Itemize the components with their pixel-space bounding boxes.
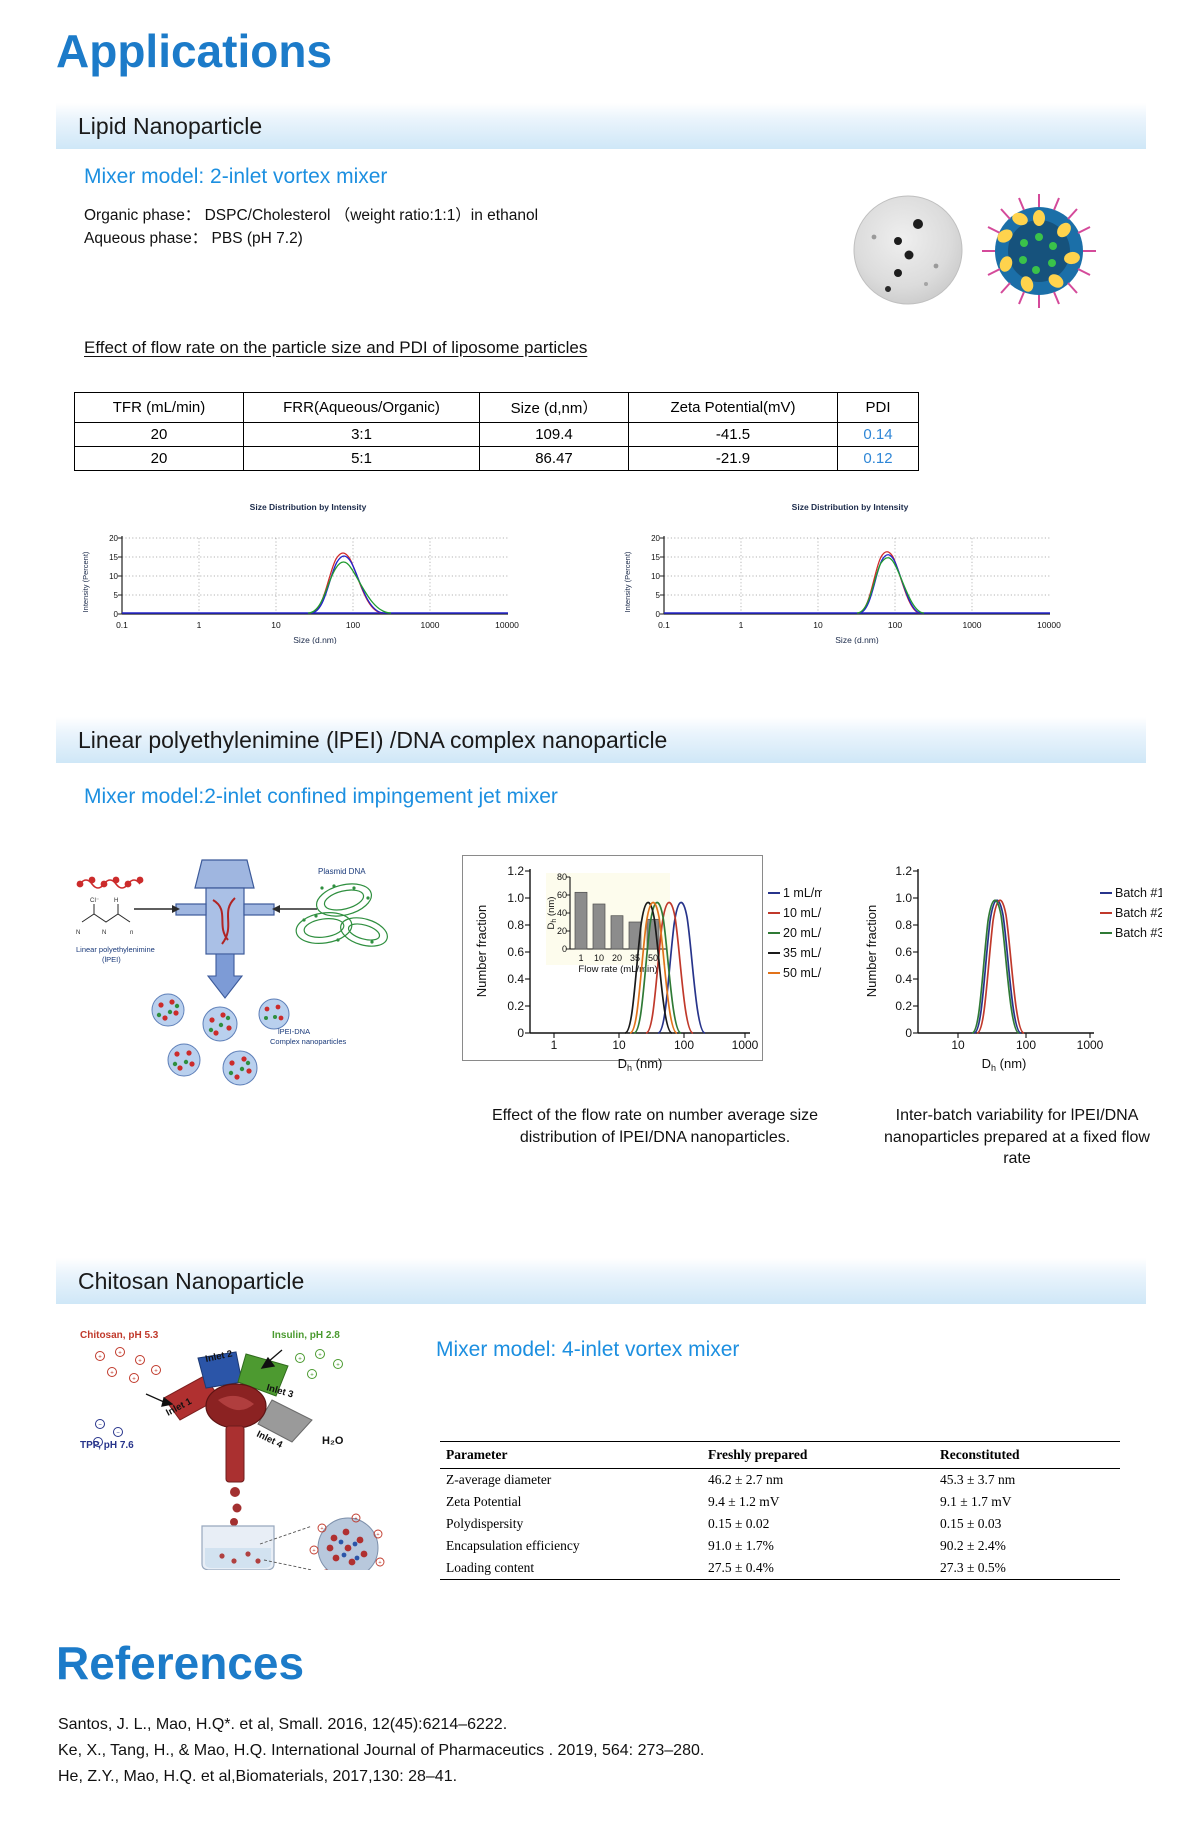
reference-item: Ke, X., Tang, H., & Mao, H.Q. Internatio… — [58, 1738, 704, 1764]
th-pdi: PDI — [838, 393, 919, 423]
svg-text:0.4: 0.4 — [895, 972, 912, 986]
section-title-lipid-nanoparticle: Lipid Nanoparticle — [56, 113, 262, 140]
cell-tfr: 20 — [75, 447, 244, 471]
cell-freshly: 27.5 ± 0.4% — [684, 1557, 916, 1580]
dls-chart-right: Size Distribution by Intensity Intensity… — [620, 500, 1080, 650]
svg-text:1.2: 1.2 — [507, 864, 524, 878]
svg-text:Complex nanoparticles: Complex nanoparticles — [270, 1037, 347, 1046]
dls-chart-title: Size Distribution by Intensity — [620, 500, 1080, 512]
th-freshly: Freshly prepared — [684, 1442, 916, 1469]
page-title-references: References — [56, 1640, 304, 1686]
svg-text:10: 10 — [813, 620, 823, 630]
th-frr: FRR(Aqueous/Organic) — [244, 393, 480, 423]
cell-reconstituted: 45.3 ± 3.7 nm — [916, 1469, 1120, 1492]
svg-text:1.0: 1.0 — [507, 891, 524, 905]
svg-text:1000: 1000 — [1077, 1038, 1104, 1052]
svg-text:Insulin, pH 2.8: Insulin, pH 2.8 — [272, 1330, 340, 1341]
svg-text:15: 15 — [109, 553, 118, 562]
svg-text:1: 1 — [578, 953, 583, 963]
cell-reconstituted: 0.15 ± 0.03 — [916, 1513, 1120, 1535]
cell-size: 109.4 — [480, 423, 629, 447]
cell-freshly: 9.4 ± 1.2 mV — [684, 1491, 916, 1513]
chart-flow-rate-distribution: Number fraction 0 0.2 0.4 0.6 0.8 1.0 1.… — [462, 855, 822, 1085]
th-zeta: Zeta Potential(mV) — [629, 393, 838, 423]
svg-text:Dh (nm): Dh (nm) — [618, 1056, 663, 1073]
mixer-model-chitosan: Mixer model: 4-inlet vortex mixer — [436, 1338, 739, 1362]
cell-reconstituted: 9.1 ± 1.7 mV — [916, 1491, 1120, 1513]
svg-text:+: + — [378, 1560, 381, 1566]
cell-tfr: 20 — [75, 423, 244, 447]
svg-text:+: + — [110, 1371, 114, 1377]
svg-text:−: − — [116, 1431, 120, 1437]
cell-parameter: Z-average diameter — [440, 1469, 684, 1492]
svg-text:0.8: 0.8 — [895, 918, 912, 932]
svg-text:−: − — [98, 1423, 102, 1429]
svg-text:Size (d.nm): Size (d.nm) — [835, 635, 879, 644]
svg-text:1: 1 — [739, 620, 744, 630]
svg-text:0: 0 — [114, 610, 119, 619]
cell-frr: 5:1 — [244, 447, 480, 471]
svg-text:TPP, pH 7.6: TPP, pH 7.6 — [80, 1440, 134, 1451]
svg-text:N: N — [76, 930, 80, 936]
svg-text:CI⁻: CI⁻ — [90, 898, 99, 904]
svg-text:0.8: 0.8 — [507, 918, 524, 932]
svg-text:1000: 1000 — [732, 1038, 759, 1052]
section-title-lpei-dna: Linear polyethylenimine (lPEI) /DNA comp… — [56, 727, 667, 754]
svg-text:20: 20 — [612, 953, 622, 963]
table-row: 20 3:1 109.4 -41.5 0.14 — [75, 423, 919, 447]
table-row: Z-average diameter 46.2 ± 2.7 nm 45.3 ± … — [440, 1469, 1120, 1492]
table-row: Encapsulation efficiency 91.0 ± 1.7% 90.… — [440, 1535, 1120, 1557]
svg-text:20 mL/min: 20 mL/min — [783, 926, 822, 940]
svg-text:Size (d.nm): Size (d.nm) — [293, 635, 337, 644]
svg-text:60: 60 — [557, 890, 567, 900]
section-title-chitosan: Chitosan Nanoparticle — [56, 1268, 304, 1295]
svg-text:Number fraction: Number fraction — [474, 905, 489, 997]
dls-plot-left: Intensity (Percent) 05 101520 — [78, 512, 538, 644]
section-band-lpei-dna: Linear polyethylenimine (lPEI) /DNA comp… — [56, 717, 1146, 763]
svg-text:+: + — [98, 1355, 102, 1361]
svg-text:1.0: 1.0 — [895, 891, 912, 905]
tem-micrograph-image — [852, 194, 964, 306]
svg-text:Linear polyethylenimine: Linear polyethylenimine — [76, 945, 155, 954]
table-header-row: Parameter Freshly prepared Reconstituted — [440, 1442, 1120, 1469]
svg-text:+: + — [138, 1359, 142, 1365]
svg-text:0.6: 0.6 — [507, 945, 524, 959]
table-row: Loading content 27.5 ± 0.4% 27.3 ± 0.5% — [440, 1557, 1120, 1580]
svg-text:+: + — [298, 1357, 302, 1363]
svg-text:1: 1 — [551, 1038, 558, 1052]
svg-text:0.1: 0.1 — [658, 620, 670, 630]
svg-text:Plasmid DNA: Plasmid DNA — [318, 867, 366, 876]
svg-text:50: 50 — [648, 953, 658, 963]
figure-caption-batch: Inter-batch variability for lPEI/DNA nan… — [872, 1105, 1162, 1170]
svg-text:1 mL/min: 1 mL/min — [783, 886, 822, 900]
cell-parameter: Polydispersity — [440, 1513, 684, 1535]
table-row: Zeta Potential 9.4 ± 1.2 mV 9.1 ± 1.7 mV — [440, 1491, 1120, 1513]
svg-text:1000: 1000 — [963, 620, 982, 630]
svg-text:lPEI-DNA: lPEI-DNA — [278, 1027, 310, 1036]
four-inlet-mixer-diagram: Chitosan, pH 5.3 Insulin, pH 2.8 TPP, pH… — [76, 1320, 406, 1570]
svg-text:100: 100 — [888, 620, 902, 630]
dls-chart-title: Size Distribution by Intensity — [78, 500, 538, 512]
svg-text:+: + — [318, 1353, 322, 1359]
chart-batch-variability: Number fraction 0 0.2 0.4 0.6 0.8 1.0 1.… — [862, 855, 1162, 1085]
cell-pdi: 0.14 — [838, 423, 919, 447]
table-caption-flow-rate: Effect of flow rate on the particle size… — [84, 338, 587, 358]
cell-size: 86.47 — [480, 447, 629, 471]
cell-frr: 3:1 — [244, 423, 480, 447]
lpei-dna-schematic: CI⁻ H N N n Linear polyethylenimine (lPE… — [72, 848, 422, 1088]
svg-text:10000: 10000 — [1037, 620, 1061, 630]
cell-parameter: Zeta Potential — [440, 1491, 684, 1513]
svg-text:0: 0 — [905, 1026, 912, 1040]
cell-freshly: 46.2 ± 2.7 nm — [684, 1469, 916, 1492]
svg-text:+: + — [336, 1363, 340, 1369]
cell-reconstituted: 90.2 ± 2.4% — [916, 1535, 1120, 1557]
svg-text:20: 20 — [651, 534, 660, 543]
svg-text:100: 100 — [1016, 1038, 1036, 1052]
svg-text:5: 5 — [656, 591, 661, 600]
svg-text:10: 10 — [271, 620, 281, 630]
svg-text:H₂O: H₂O — [322, 1435, 344, 1447]
cell-pdi: 0.12 — [838, 447, 919, 471]
lipid-nanoparticle-table: TFR (mL/min) FRR(Aqueous/Organic) Size (… — [74, 392, 919, 471]
svg-text:−: − — [96, 1441, 100, 1447]
table-header-row: TFR (mL/min) FRR(Aqueous/Organic) Size (… — [75, 393, 919, 423]
svg-text:20: 20 — [557, 926, 567, 936]
svg-text:10: 10 — [594, 953, 604, 963]
svg-text:+: + — [118, 1351, 122, 1357]
dls-chart-left: Size Distribution by Intensity Intensity… — [78, 500, 538, 650]
svg-text:0: 0 — [517, 1026, 524, 1040]
svg-text:+: + — [310, 1373, 314, 1379]
references-list: Santos, J. L., Mao, H.Q*. et al, Small. … — [58, 1712, 704, 1790]
svg-text:(lPEI): (lPEI) — [102, 955, 121, 964]
th-tfr: TFR (mL/min) — [75, 393, 244, 423]
svg-text:50 mL/min: 50 mL/min — [783, 966, 822, 980]
svg-text:15: 15 — [651, 553, 660, 562]
svg-text:+: + — [320, 1526, 323, 1532]
svg-text:10: 10 — [612, 1038, 626, 1052]
svg-text:+: + — [312, 1548, 315, 1554]
svg-text:5: 5 — [114, 591, 119, 600]
th-parameter: Parameter — [440, 1442, 684, 1469]
svg-text:Batch #2: Batch #2 — [1115, 906, 1162, 920]
svg-text:0.1: 0.1 — [116, 620, 128, 630]
th-reconstituted: Reconstituted — [916, 1442, 1120, 1469]
svg-text:Batch #3: Batch #3 — [1115, 926, 1162, 940]
lipid-nanoparticle-illustration — [980, 192, 1098, 310]
cell-freshly: 91.0 ± 1.7% — [684, 1535, 916, 1557]
svg-text:Batch #1: Batch #1 — [1115, 886, 1162, 900]
mixer-model-lipid: Mixer model: 2-inlet vortex mixer — [84, 165, 387, 189]
svg-text:100: 100 — [346, 620, 360, 630]
cell-reconstituted: 27.3 ± 0.5% — [916, 1557, 1120, 1580]
svg-text:1000: 1000 — [421, 620, 440, 630]
svg-text:Number fraction: Number fraction — [864, 905, 879, 997]
cell-freshly: 0.15 ± 0.02 — [684, 1513, 916, 1535]
svg-text:0.6: 0.6 — [895, 945, 912, 959]
table-row: Polydispersity 0.15 ± 0.02 0.15 ± 0.03 — [440, 1513, 1120, 1535]
svg-text:Chitosan, pH 5.3: Chitosan, pH 5.3 — [80, 1330, 159, 1341]
svg-text:Intensity (Percent): Intensity (Percent) — [623, 551, 632, 612]
reference-item: Santos, J. L., Mao, H.Q*. et al, Small. … — [58, 1712, 704, 1738]
figure-caption-flow-rate: Effect of the flow rate on number averag… — [490, 1105, 820, 1148]
dls-plot-right: Intensity (Percent) 05 101520 — [620, 512, 1080, 644]
svg-text:10: 10 — [651, 572, 660, 581]
th-size: Size (d,nm） — [480, 393, 629, 423]
cell-parameter: Encapsulation efficiency — [440, 1535, 684, 1557]
svg-text:H: H — [114, 898, 118, 904]
mixer-model-lpei: Mixer model:2-inlet confined impingement… — [84, 785, 558, 809]
svg-text:N: N — [102, 930, 106, 936]
svg-text:Inlet 3: Inlet 3 — [265, 1382, 294, 1400]
page-title-applications: Applications — [56, 28, 332, 74]
svg-text:n: n — [130, 930, 133, 936]
svg-text:40: 40 — [557, 908, 567, 918]
svg-text:Intensity (Percent): Intensity (Percent) — [81, 551, 90, 612]
cell-zeta: -21.9 — [629, 447, 838, 471]
svg-text:10 mL/min: 10 mL/min — [783, 906, 822, 920]
svg-text:0.4: 0.4 — [507, 972, 524, 986]
svg-text:+: + — [354, 1516, 357, 1522]
section-band-lipid-nanoparticle: Lipid Nanoparticle — [56, 103, 1146, 149]
svg-text:35 mL/min: 35 mL/min — [783, 946, 822, 960]
poster-page: Applications Lipid Nanoparticle Mixer mo… — [0, 0, 1200, 1845]
chitosan-results-table: Parameter Freshly prepared Reconstituted… — [440, 1441, 1120, 1580]
svg-text:80: 80 — [557, 872, 567, 882]
phase-description-lipid: Organic phase： DSPC/Cholesterol （weight … — [84, 204, 538, 251]
svg-text:+: + — [154, 1369, 158, 1375]
svg-text:10: 10 — [951, 1038, 965, 1052]
reference-item: He, Z.Y., Mao, H.Q. et al,Biomaterials, … — [58, 1764, 704, 1790]
svg-text:1.2: 1.2 — [895, 864, 912, 878]
svg-text:1: 1 — [197, 620, 202, 630]
svg-text:+: + — [376, 1532, 379, 1538]
svg-text:10: 10 — [109, 572, 118, 581]
svg-text:0: 0 — [656, 610, 661, 619]
cell-parameter: Loading content — [440, 1557, 684, 1580]
svg-text:+: + — [132, 1377, 136, 1383]
section-band-chitosan: Chitosan Nanoparticle — [56, 1258, 1146, 1304]
table-row: 20 5:1 86.47 -21.9 0.12 — [75, 447, 919, 471]
svg-text:Dh (nm): Dh (nm) — [982, 1056, 1027, 1073]
svg-text:20: 20 — [109, 534, 118, 543]
svg-text:0.2: 0.2 — [895, 999, 912, 1013]
svg-text:10000: 10000 — [495, 620, 519, 630]
svg-text:100: 100 — [674, 1038, 694, 1052]
cell-zeta: -41.5 — [629, 423, 838, 447]
svg-text:0.2: 0.2 — [507, 999, 524, 1013]
